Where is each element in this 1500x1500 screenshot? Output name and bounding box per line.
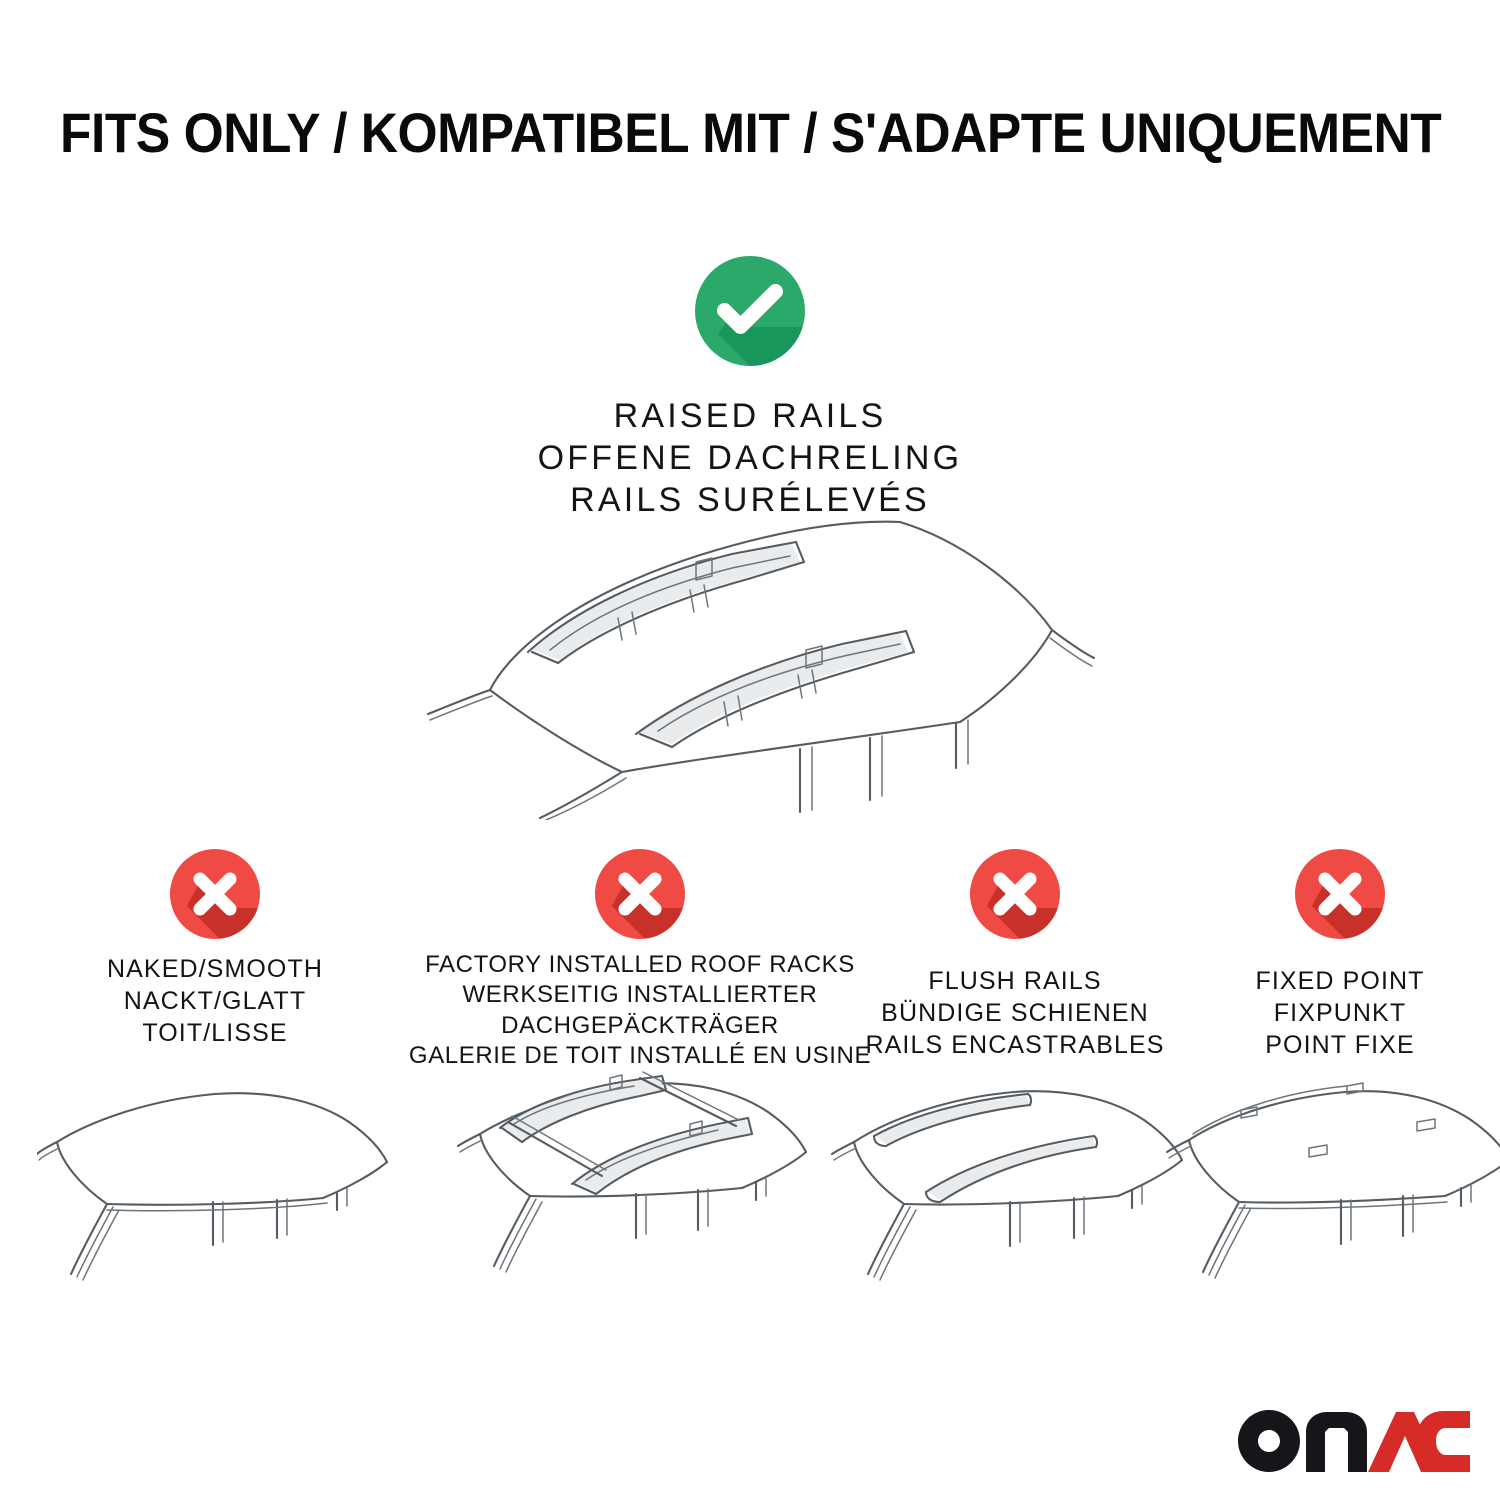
incompatible-column-naked-smooth: NAKED/SMOOTH NACKT/GLATT TOIT/LISSE: [0, 848, 430, 1049]
compatible-label-en: RAISED RAILS: [0, 395, 1500, 437]
label-line: POINT FIXE: [1255, 1030, 1424, 1062]
label-line: NACKT/GLATT: [107, 986, 323, 1018]
label-line: BÜNDIGE SCHIENEN: [865, 998, 1164, 1030]
incompatible-label-naked-smooth: NAKED/SMOOTH NACKT/GLATT TOIT/LISSE: [107, 954, 323, 1049]
page-title: FITS ONLY / KOMPATIBEL MIT / S'ADAPTE UN…: [60, 100, 1440, 165]
label-line: FACTORY INSTALLED ROOF RACKS: [409, 950, 871, 980]
incompatible-label-flush-rails: FLUSH RAILS BÜNDIGE SCHIENEN RAILS ENCAS…: [865, 966, 1164, 1061]
car-roof-fixed-point-illustration: [1165, 1070, 1500, 1300]
omac-logo: [1238, 1410, 1470, 1472]
car-roof-naked-smooth-illustration: [37, 1070, 393, 1300]
car-roof-raised-rails-illustration: [400, 500, 1100, 820]
label-line: DACHGEPÄCKTRÄGER: [409, 1011, 871, 1041]
label-line: TOIT/LISSE: [107, 1018, 323, 1050]
x-circle-icon: [969, 848, 1061, 940]
incompatible-column-flush-rails: FLUSH RAILS BÜNDIGE SCHIENEN RAILS ENCAS…: [850, 848, 1180, 1061]
incompatible-column-fixed-point: FIXED POINT FIXPUNKT POINT FIXE: [1180, 848, 1500, 1061]
check-circle-icon: [694, 255, 806, 367]
x-circle-icon: [1294, 848, 1386, 940]
car-roof-factory-rack-illustration: [450, 1058, 830, 1298]
compatible-section: RAISED RAILS OFFENE DACHRELING RAILS SUR…: [0, 255, 1500, 521]
car-roof-flush-rails-illustration: [830, 1070, 1200, 1300]
compatibility-infographic: FITS ONLY / KOMPATIBEL MIT / S'ADAPTE UN…: [0, 0, 1500, 1500]
incompatible-section: NAKED/SMOOTH NACKT/GLATT TOIT/LISSE: [0, 848, 1500, 1072]
label-line: FLUSH RAILS: [865, 966, 1164, 998]
label-line: WERKSEITIG INSTALLIERTER: [409, 980, 871, 1010]
label-line: RAILS ENCASTRABLES: [865, 1030, 1164, 1062]
incompatible-label-factory-rack: FACTORY INSTALLED ROOF RACKS WERKSEITIG …: [409, 950, 871, 1072]
incompatible-column-factory-rack: FACTORY INSTALLED ROOF RACKS WERKSEITIG …: [430, 848, 850, 1072]
label-line: NAKED/SMOOTH: [107, 954, 323, 986]
label-line: FIXPUNKT: [1255, 998, 1424, 1030]
x-circle-icon: [169, 848, 261, 940]
compatible-label-de: OFFENE DACHRELING: [0, 437, 1500, 479]
incompatible-label-fixed-point: FIXED POINT FIXPUNKT POINT FIXE: [1255, 966, 1424, 1061]
x-circle-icon: [594, 848, 686, 940]
label-line: FIXED POINT: [1255, 966, 1424, 998]
